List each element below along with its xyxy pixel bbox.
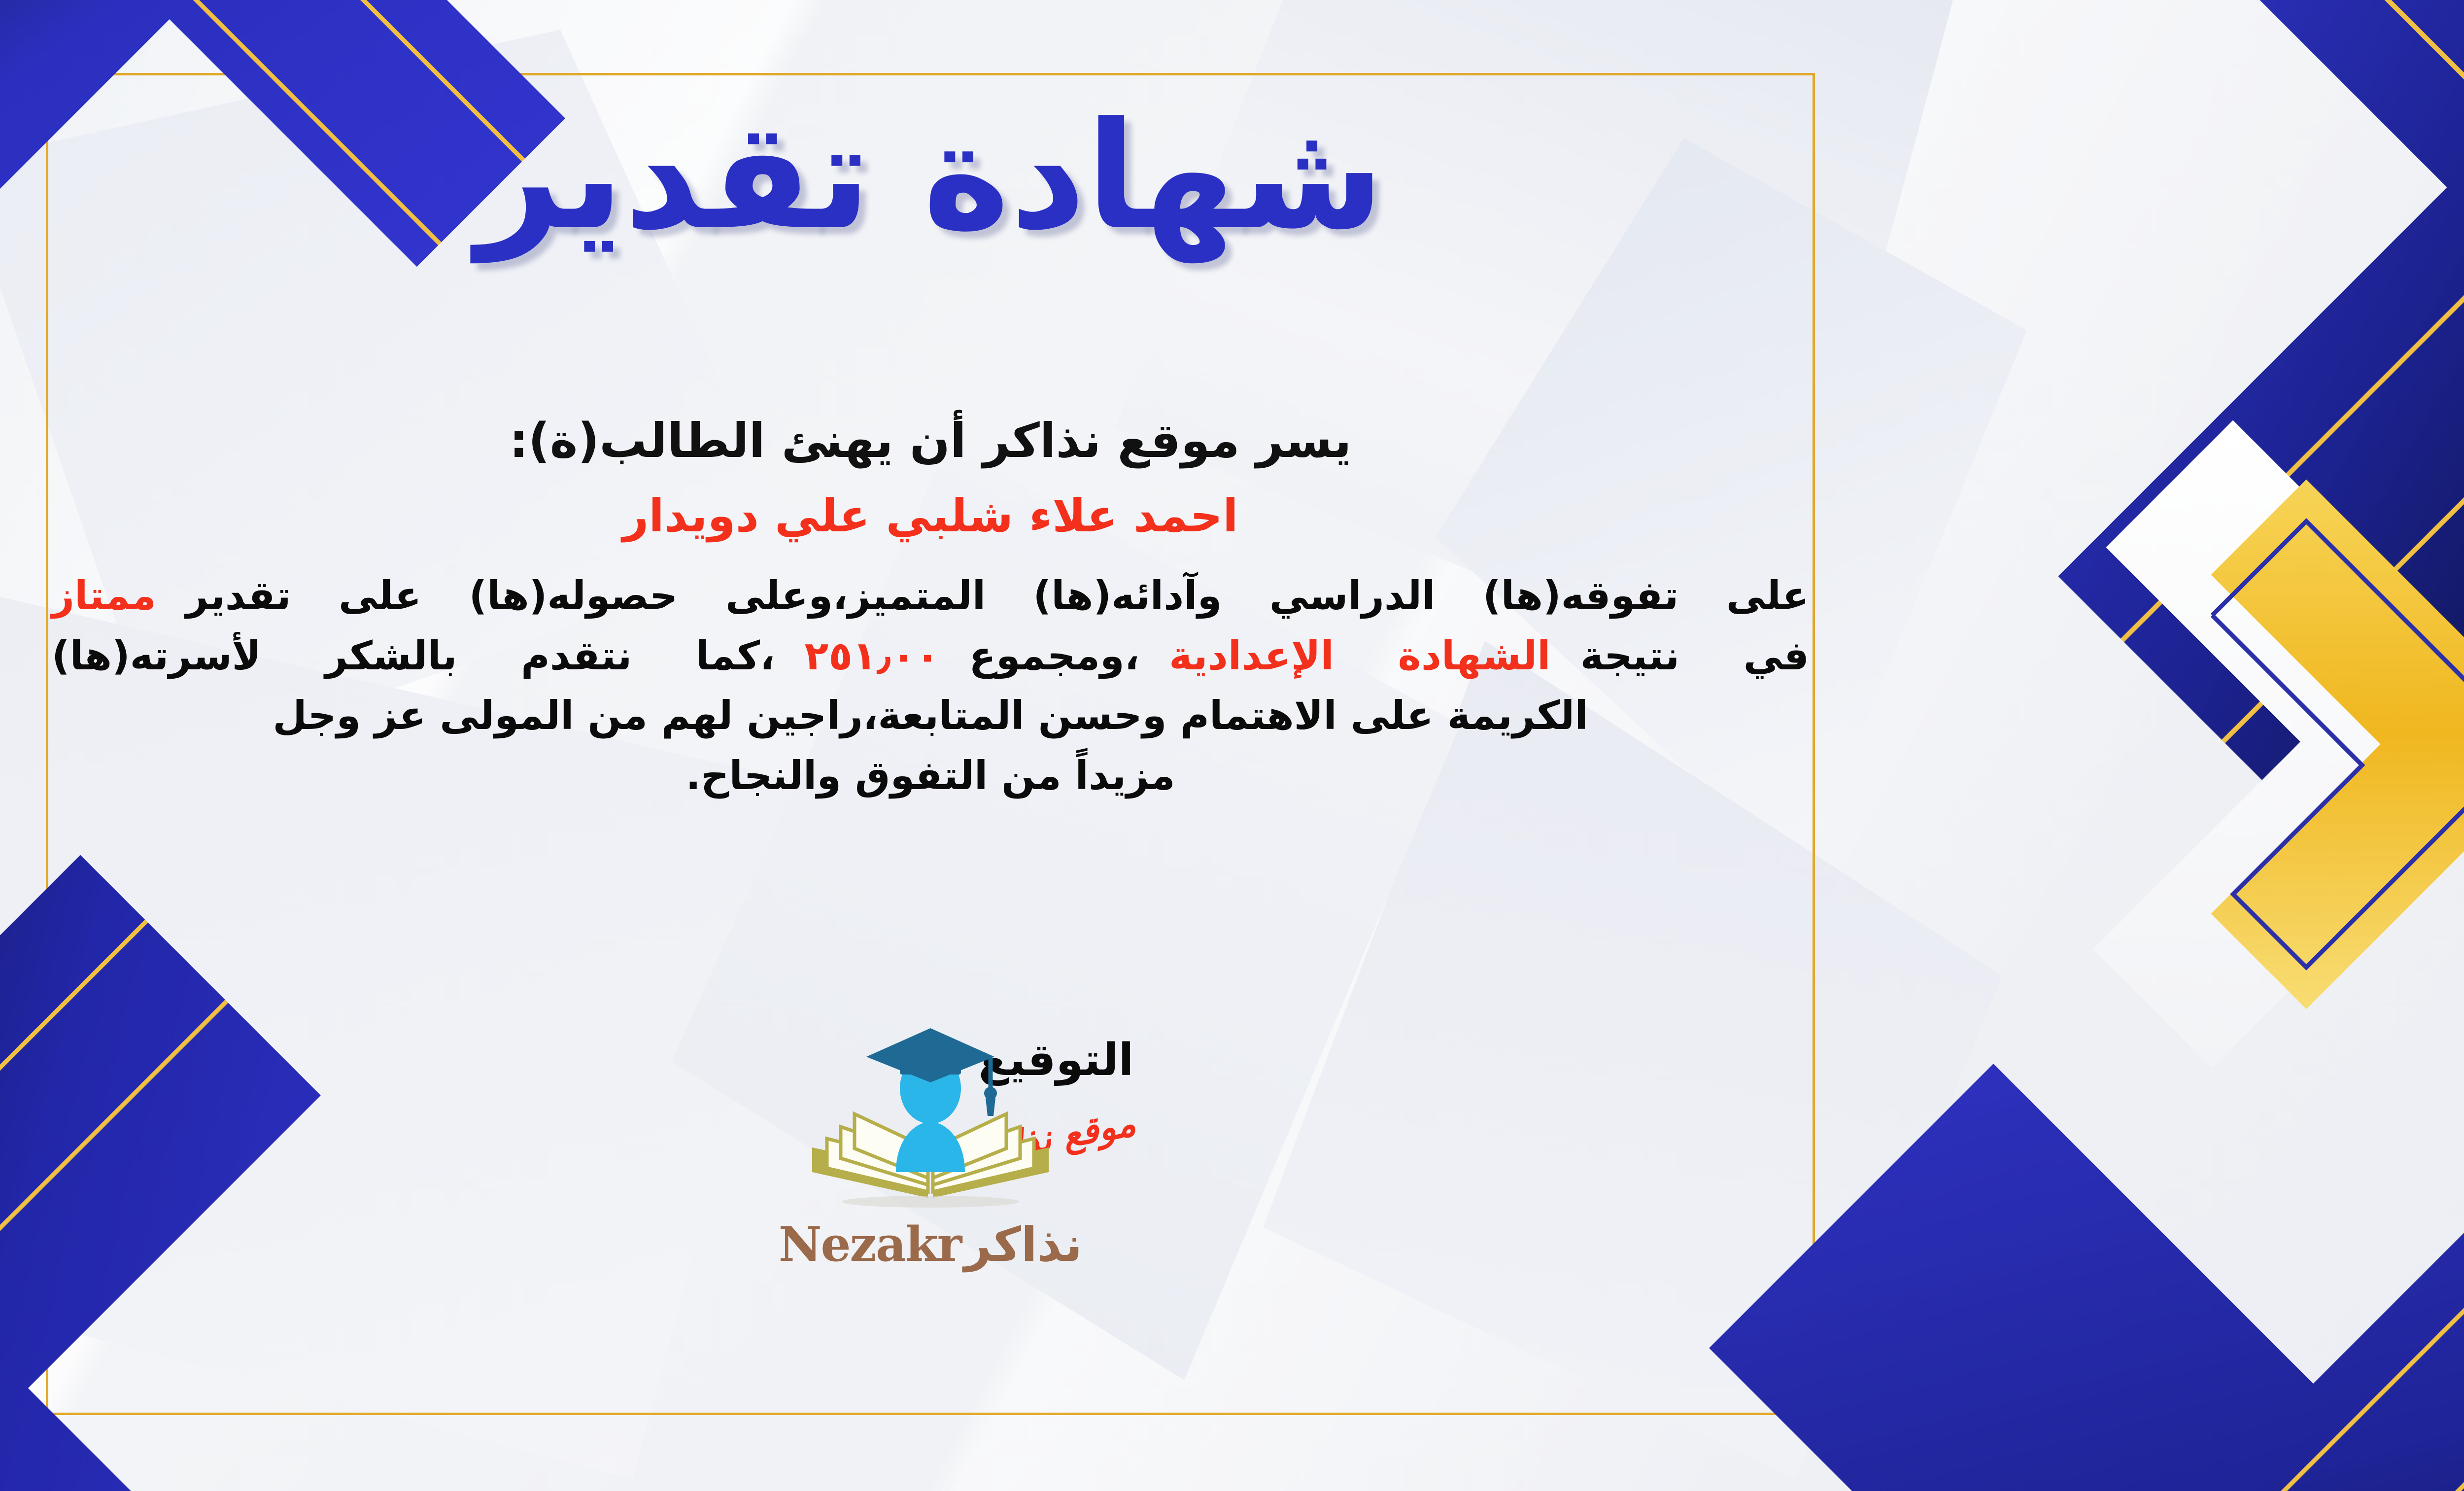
certificate-body: على تفوقه(ها) الدراسي وآدائه(ها) المتميز…	[46, 566, 1815, 805]
logo-name-latin: Nezakr	[779, 1216, 961, 1272]
body-line-2: في نتيجةالشهادة الإعدادية،ومجموع٢٥١٫٠٠،ك…	[46, 626, 1815, 686]
body-line-4: مزيداً من التفوق والنجاح.	[46, 746, 1815, 806]
logo-wordmark: Nezakr نذاكر	[779, 1216, 1083, 1272]
certificate-content: شهادة تقدير يسر موقع نذاكر أن يهنئ الطال…	[46, 73, 1815, 1415]
graduate-book-icon	[797, 1024, 1063, 1221]
grade-value: ممتاز	[52, 573, 156, 619]
student-name: احمد علاء شلبي علي دويدار	[46, 489, 1815, 542]
body-line-1-text: على تفوقه(ها) الدراسي وآدائه(ها) المتميز…	[186, 573, 1809, 619]
certificate-canvas: شهادة تقدير يسر موقع نذاكر أن يهنئ الطال…	[0, 0, 2464, 1491]
body-line-2-suffix: ،كما نتقدم بالشكر لأسرته(ها)	[52, 633, 775, 679]
greeting-text: يسر موقع نذاكر أن يهنئ الطالب(ة):	[46, 413, 1815, 468]
total-score: ٢٥١٫٠٠	[804, 633, 939, 679]
body-line-3: الكريمة على الاهتمام وحسن المتابعة،راجين…	[46, 686, 1815, 746]
logo-name-arabic: نذاكر	[964, 1217, 1082, 1272]
page-title: شهادة تقدير	[46, 84, 1815, 269]
body-line-2-prefix: في نتيجة	[1580, 633, 1809, 679]
exam-name: الشهادة الإعدادية	[1169, 633, 1550, 679]
brand-logo: Nezakr نذاكر	[46, 1024, 1815, 1272]
body-line-2-mid: ،ومجموع	[969, 633, 1139, 679]
body-line-1: على تفوقه(ها) الدراسي وآدائه(ها) المتميز…	[46, 566, 1815, 626]
